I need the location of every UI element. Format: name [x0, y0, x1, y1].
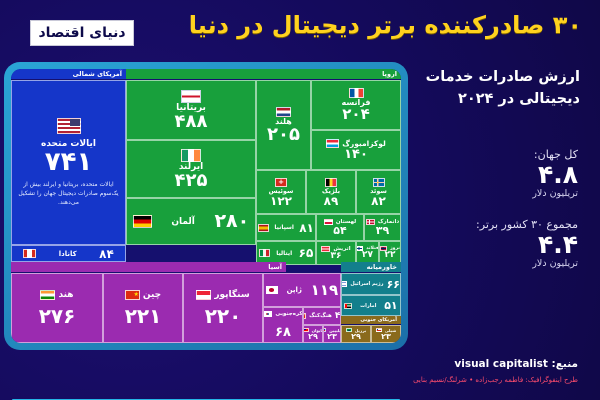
cell-uae[interactable]: ۵۱ امارات [341, 295, 401, 316]
treemap: آمریکای شمالی ایالات متحده ۷۴۱ ایالات مت… [11, 69, 401, 343]
flag-fi-icon [356, 246, 363, 251]
cell-brazil-value: ۲۹ [351, 333, 361, 341]
cell-singapore[interactable]: سنگاپور ۲۲۰ [183, 273, 263, 343]
cell-belgium[interactable]: بلژیک ۸۹ [306, 170, 356, 214]
flag-in-icon [40, 290, 55, 300]
cell-switzerland-value: ۱۲۲ [270, 195, 292, 207]
cell-us[interactable]: ایالات متحده ۷۴۱ ایالات متحده، بریتانیا … [11, 80, 126, 245]
cell-south-korea-name: کره‌جنوبی [275, 311, 302, 317]
credit-line: طرح اینفوگرافیک: فاطمه رجب‌زاده • شرلنگ/… [413, 376, 578, 384]
flag-fr-icon [349, 88, 364, 98]
cell-india-name: هند [58, 290, 73, 300]
cell-uae-name: امارات [360, 303, 376, 309]
us-note: ایالات متحده، بریتانیا و ایرلند بیش از ی… [12, 180, 125, 207]
cell-spain-value: ۸۱ [299, 222, 314, 234]
cell-china[interactable]: چین ۲۲۱ [103, 273, 183, 343]
flag-at-icon [321, 246, 330, 252]
stat-world-total: کل جهان: ۴.۸ تریلیون دلار [532, 148, 578, 199]
cell-hong-kong-head: ۴۹ هنگ‌کنگ [303, 312, 341, 321]
cell-sweden[interactable]: سوئد ۸۲ [356, 170, 401, 214]
cell-norway-value: ۲۲ [385, 251, 396, 260]
cell-ireland-value: ۴۲۵ [175, 172, 208, 190]
laptop-illustration: آمریکای شمالی ایالات متحده ۷۴۱ ایالات مت… [4, 62, 408, 354]
cell-israel-name: رژیم اسرائیل [350, 281, 383, 287]
cell-uk[interactable]: بریتانیا ۴۸۸ [126, 80, 256, 140]
cell-singapore-name: سنگاپور [214, 290, 249, 300]
cell-canada[interactable]: ۸۴ کانادا [11, 245, 126, 262]
cell-italy-value: ۶۵ [299, 247, 314, 259]
flag-jp-icon [266, 286, 278, 294]
flag-cl-icon [376, 328, 382, 332]
cell-uk-value: ۴۸۸ [175, 113, 208, 131]
flag-kr-icon [263, 311, 272, 317]
flag-dk-icon [366, 219, 375, 225]
cell-israel[interactable]: ۶۶ رژیم اسرائیل [341, 273, 401, 295]
cell-india[interactable]: هند ۲۷۶ [11, 273, 103, 343]
cell-austria-value: ۳۶ [331, 252, 342, 261]
flag-ca-icon [23, 249, 36, 258]
cell-us-value: ۷۴۱ [45, 149, 93, 175]
cell-taiwan-value: ۲۹ [308, 333, 318, 341]
cell-south-korea-value: ۶۸ [275, 326, 291, 339]
flag-be-icon [325, 178, 337, 187]
cell-china-head: چین [125, 290, 161, 300]
section-header-middle-east: خاورمیانه [341, 262, 401, 272]
cell-denmark-value: ۳۹ [376, 225, 389, 236]
flag-ph-icon [323, 328, 326, 332]
publisher-logo: دنیای اقتصاد [30, 20, 134, 46]
cell-sweden-value: ۸۲ [371, 195, 386, 207]
stat-top30-unit: تریلیون دلار [476, 258, 578, 269]
cell-france[interactable]: فرانسه ۲۰۴ [311, 80, 401, 130]
cell-chile[interactable]: شیلی ۲۳ [371, 325, 401, 343]
cell-china-value: ۲۲۱ [125, 306, 162, 326]
cell-poland[interactable]: لهستان ۵۴ [316, 214, 364, 241]
cell-poland-value: ۵۴ [333, 225, 346, 236]
cell-india-value: ۲۷۶ [39, 306, 76, 326]
cell-chile-value: ۲۳ [381, 333, 391, 341]
cell-france-value: ۲۰۴ [342, 107, 369, 122]
cell-netherlands-value: ۲۰۵ [267, 126, 300, 144]
stat-top30-total: مجموع ۳۰ کشور برتر: ۴.۴ تریلیون دلار [476, 218, 578, 269]
cell-canada-value: ۸۴ [99, 248, 114, 260]
stat-world-unit: تریلیون دلار [532, 188, 578, 199]
flag-it-icon [259, 249, 270, 257]
laptop-lid: آمریکای شمالی ایالات متحده ۷۴۱ ایالات مت… [4, 62, 408, 350]
cell-south-korea[interactable]: کره‌جنوبی ۶۸ [263, 307, 303, 343]
cell-netherlands[interactable]: هلند ۲۰۵ [256, 80, 311, 170]
cell-japan-name: ژاپن [287, 286, 302, 294]
stat-world-value: ۴.۸ [532, 162, 578, 188]
cell-germany-name: آلمان [171, 217, 195, 227]
section-header-south-america: آمریکای جنوبی [341, 316, 401, 324]
source-name: visual capitalist [454, 358, 548, 370]
cell-hong-kong[interactable]: ۴۹ هنگ‌کنگ [303, 307, 341, 325]
chart-subtitle: ارزش صادرات خدمات دیجیتالی در ۲۰۲۴ [390, 66, 580, 111]
flag-es-icon [258, 224, 269, 232]
cell-singapore-value: ۲۲۰ [205, 306, 242, 326]
cell-finland-value: ۲۷ [362, 251, 373, 260]
cell-switzerland[interactable]: سوئیس ۱۲۲ [256, 170, 306, 214]
flag-gb-icon [181, 90, 201, 103]
cell-spain-name: اسپانیا [274, 224, 294, 231]
flag-ae-icon [344, 303, 352, 309]
cell-belgium-value: ۸۹ [324, 195, 339, 207]
cell-germany-value: ۲۸۰ [214, 212, 249, 231]
stat-top30-value: ۴.۴ [476, 232, 578, 258]
infographic-canvas: دنیای اقتصاد ۳۰ صادرکننده برتر دیجیتال د… [0, 0, 600, 400]
flag-de-icon [133, 215, 152, 228]
source-prefix: منبع: [552, 358, 578, 370]
cell-china-name: چین [143, 290, 161, 300]
section-header-asia: آسیا [11, 262, 286, 272]
cell-uae-value: ۵۱ [384, 300, 397, 311]
page-title: ۳۰ صادرکننده برتر دیجیتال در دنیا [162, 10, 582, 40]
flag-cn-icon [125, 290, 140, 300]
cell-philippines-value: ۲۳ [327, 333, 337, 341]
cell-spain[interactable]: ۸۱ اسپانیا [256, 214, 316, 241]
source-attribution: منبع: visual capitalist [454, 358, 578, 370]
section-header-europe: اروپا [126, 69, 401, 79]
flag-pl-icon [324, 219, 333, 225]
cell-south-korea-head: کره‌جنوبی [263, 311, 302, 317]
flag-tw-icon [303, 328, 309, 332]
cell-luxembourg[interactable]: لوکزامبورگ ۱۴۰ [311, 130, 401, 170]
flag-lu-icon [326, 139, 339, 148]
cell-germany[interactable]: ۲۸۰ آلمان [126, 198, 256, 245]
flag-sg-icon [196, 290, 211, 300]
cell-singapore-head: سنگاپور [196, 290, 249, 300]
section-header-north-america: آمریکای شمالی [11, 69, 126, 79]
cell-taiwan[interactable]: تایوان ۲۹ [303, 325, 323, 343]
cell-japan-value: ۱۱۹ [311, 283, 338, 298]
flag-nl-icon [276, 107, 291, 117]
flag-us-icon [57, 118, 81, 134]
flag-ch-icon [275, 178, 287, 187]
flag-ie-icon [181, 149, 201, 162]
cell-india-head: هند [40, 290, 73, 300]
cell-philippines[interactable]: فیلیپین ۲۳ [323, 325, 341, 343]
flag-il-icon [341, 281, 347, 287]
flag-hk-icon [303, 313, 306, 319]
cell-japan[interactable]: ۱۱۹ ژاپن [263, 273, 341, 307]
cell-canada-name: کانادا [59, 250, 77, 258]
flag-se-icon [373, 178, 385, 187]
flag-no-icon [380, 246, 387, 251]
cell-hong-kong-name: هنگ‌کنگ [309, 313, 332, 319]
cell-israel-value: ۶۶ [387, 279, 400, 290]
cell-luxembourg-value: ۱۴۰ [344, 148, 368, 161]
cell-denmark[interactable]: دانمارک ۳۹ [364, 214, 401, 241]
cell-italy-name: ایتالیا [276, 250, 292, 257]
cell-ireland[interactable]: ایرلند ۴۲۵ [126, 140, 256, 198]
laptop-screen: آمریکای شمالی ایالات متحده ۷۴۱ ایالات مت… [11, 69, 401, 343]
cell-brazil[interactable]: برزیل ۲۹ [341, 325, 371, 343]
